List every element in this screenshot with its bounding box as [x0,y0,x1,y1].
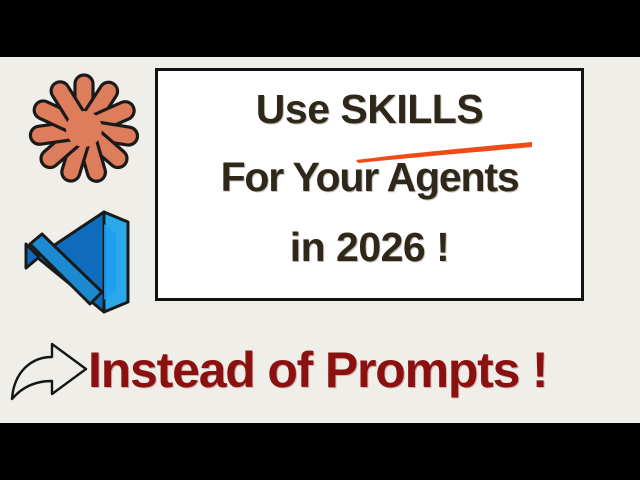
letterbox-bar-bottom [0,423,640,480]
headline-box: Use SKILLS For Your Agents in 2026 ! [155,68,584,301]
headline-line-1: Use SKILLS [158,85,581,133]
thumbnail-stage: Use SKILLS For Your Agents in 2026 ! Ins… [0,0,640,480]
claude-logo-icon [22,67,146,191]
caption-text: Instead of Prompts ! [88,334,636,410]
letterbox-bar-top [0,0,640,57]
curved-right-arrow-icon [8,339,90,405]
headline-line-2: For Your Agents [158,153,581,201]
caption-row: Instead of Prompts ! [0,334,640,410]
vscode-logo-icon [16,206,138,318]
headline-line-3: in 2026 ! [158,223,581,271]
